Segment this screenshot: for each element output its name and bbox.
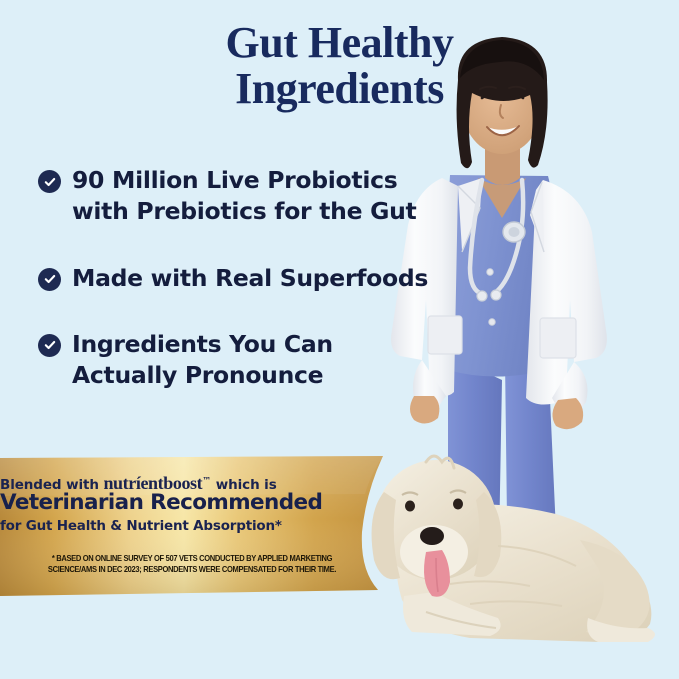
trademark-symbol: ™ [202,477,211,487]
check-circle-icon [38,170,61,193]
page-title: Gut Healthy Ingredients [0,20,679,112]
list-item: Ingredients You Can Actually Pronounce [38,329,458,392]
list-item: 90 Million Live Probiotics with Prebioti… [38,165,458,228]
benefits-list: 90 Million Live Probiotics with Prebioti… [38,165,458,426]
check-circle-icon [38,268,61,291]
list-item-label: Made with Real Superfoods [72,263,428,294]
check-circle-icon [38,334,61,357]
banner-disclaimer: * BASED ON ONLINE SURVEY OF 507 VETS CON… [37,553,346,575]
veterinarian-recommended-banner: Blended with nutríentboost™ which is Ve… [0,450,400,610]
promo-graphic: Gut Healthy Ingredients 90 Million Live … [0,0,679,679]
list-item-label: Ingredients You Can Actually Pronounce [72,329,333,392]
banner-headline: Veterinarian Recommended [0,490,378,515]
list-item: Made with Real Superfoods [38,263,458,294]
list-item-label: 90 Million Live Probiotics with Prebioti… [72,165,416,228]
banner-subline: for Gut Health & Nutrient Absorption* [0,518,378,534]
